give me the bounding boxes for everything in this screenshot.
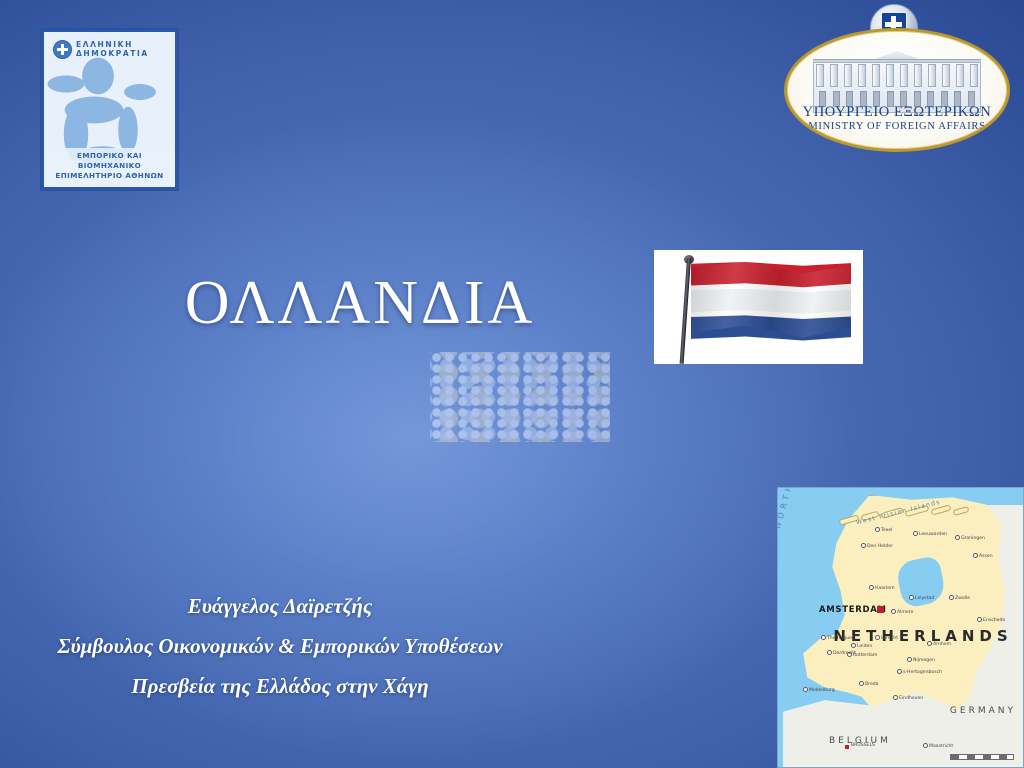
chamber-name-line-2: ΕΠΙΜΕΛΗΤΗΡΙΟ ΑΘΗΝΩΝ <box>46 171 173 181</box>
city-label: Leeuwarden <box>913 531 947 537</box>
city-label: Enschede <box>977 617 1005 623</box>
city-label: Maastricht <box>923 743 953 749</box>
city-label: Zwolle <box>949 595 970 601</box>
subtitle-line-1: Ευάγγελος Δαϊρετζής <box>0 586 560 626</box>
germany-label: GERMANY <box>950 706 1016 716</box>
brussels-marker <box>845 745 849 749</box>
athens-chamber-of-commerce-logo: ΕΛΛΗΝΙΚΗ ΔΗΜΟΚΡΑΤΙΑ ΕΜΠΟΡΙΚΟ ΚΑΙ ΒΙΟΜΗΧΑ… <box>40 28 179 191</box>
city-label: Nijmegen <box>907 657 935 663</box>
flag-stripe-red <box>691 262 851 291</box>
city-label: Assen <box>973 553 993 559</box>
slide-title: ΟΛΛΑΝΔΙΑ <box>0 272 720 334</box>
city-label: Texel <box>875 527 892 533</box>
hellenic-republic-line-2: ΔΗΜΟΚΡΑΤΙΑ <box>76 49 149 58</box>
city-label: Middelburg <box>803 687 835 693</box>
slide-subtitle: Ευάγγελος Δαϊρετζής Σύμβουλος Οικονομικώ… <box>0 586 560 706</box>
map-scale-bar <box>950 754 1014 760</box>
ministry-labels: ΥΠΟΥΡΓΕΙΟ ΕΞΩΤΕΡΙΚΩΝ MINISTRY OF FOREIGN… <box>787 104 1007 133</box>
city-label: Eindhoven <box>893 695 923 701</box>
city-label: Groningen <box>955 535 985 541</box>
subtitle-line-3: Πρεσβεία της Ελλάδος στην Χάγη <box>0 666 560 706</box>
flag-pole <box>680 258 691 364</box>
city-label: Lelystad <box>909 595 934 601</box>
building-columns <box>816 64 978 87</box>
city-label: Dordrecht <box>827 650 856 656</box>
city-label: Den Helder <box>861 543 893 549</box>
greek-ministry-of-foreign-affairs-logo: ΥΠΟΥΡΓΕΙΟ ΕΞΩΤΕΡΙΚΩΝ MINISTRY OF FOREIGN… <box>778 2 1010 150</box>
hellenic-republic-line-1: ΕΛΛΗΝΙΚΗ <box>76 40 149 49</box>
netherlands-flag-image <box>654 250 863 364</box>
sparkle-texture <box>430 352 610 442</box>
ministry-label-english: MINISTRY OF FOREIGN AFFAIRS <box>787 120 1007 133</box>
presentation-slide: ΕΛΛΗΝΙΚΗ ΔΗΜΟΚΡΑΤΙΑ ΕΜΠΟΡΙΚΟ ΚΑΙ ΒΙΟΜΗΧΑ… <box>0 0 1024 768</box>
logo-oval-frame: ΥΠΟΥΡΓΕΙΟ ΕΞΩΤΕΡΙΚΩΝ MINISTRY OF FOREIGN… <box>784 28 1010 152</box>
chamber-name-line-1: ΕΜΠΟΡΙΚΟ ΚΑΙ ΒΙΟΜΗΧΑΝΙΚΟ <box>46 151 173 171</box>
netherlands-map-image: NORTH SEA West Frisian Islands NETHERLAN… <box>777 487 1024 768</box>
city-label: Arnhem <box>927 641 951 647</box>
city-label: Breda <box>859 681 879 687</box>
capital-marker <box>877 606 884 613</box>
city-label: s-Hertogenbosch <box>897 669 942 675</box>
flag-cloth <box>691 262 851 348</box>
city-label: Utrecht <box>875 635 898 641</box>
ministry-label-greek: ΥΠΟΥΡΓΕΙΟ ΕΞΩΤΕΡΙΚΩΝ <box>787 104 1007 120</box>
logo-inner-panel: ΕΛΛΗΝΙΚΗ ΔΗΜΟΚΡΑΤΙΑ ΕΜΠΟΡΙΚΟ ΚΑΙ ΒΙΟΜΗΧΑ… <box>44 32 175 187</box>
flag-stripe-white <box>691 289 851 318</box>
city-label: Haarlem <box>869 585 895 591</box>
north-sea-label: NORTH SEA <box>777 487 801 529</box>
flag-stripe-blue <box>691 315 851 344</box>
city-label: Leiden <box>851 643 872 649</box>
greek-cross-seal-icon <box>53 40 72 59</box>
city-label: The Hague <box>821 635 852 641</box>
city-label: Almere <box>891 609 913 615</box>
hellenic-republic-text: ΕΛΛΗΝΙΚΗ ΔΗΜΟΚΡΑΤΙΑ <box>76 40 149 58</box>
hellenic-republic-heading: ΕΛΛΗΝΙΚΗ ΔΗΜΟΚΡΑΤΙΑ <box>53 34 173 64</box>
chamber-name-text: ΕΜΠΟΡΙΚΟ ΚΑΙ ΒΙΟΜΗΧΑΝΙΚΟ ΕΠΙΜΕΛΗΤΗΡΙΟ ΑΘ… <box>44 148 175 185</box>
brussels-label: BRUSSELS <box>851 743 875 748</box>
subtitle-line-2: Σύμβουλος Οικονομικών & Εμπορικών Υποθέσ… <box>0 626 560 666</box>
